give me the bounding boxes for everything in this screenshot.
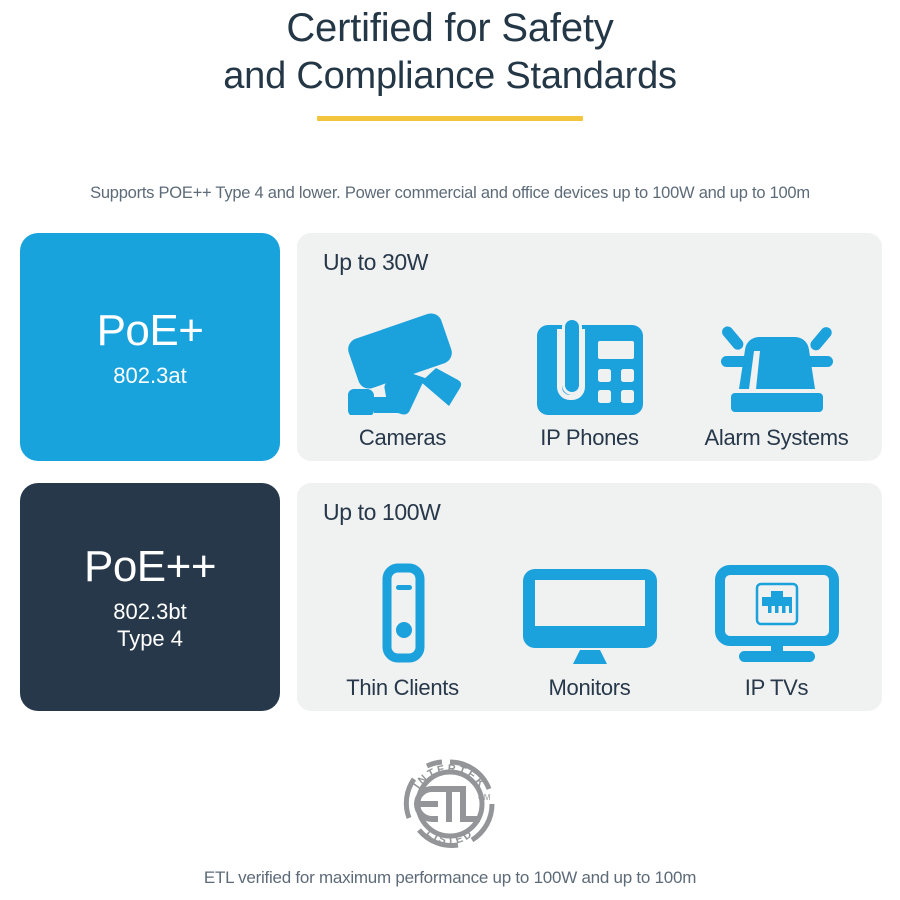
- page-title-line-1: Certified for Safety: [0, 4, 900, 52]
- poe-plusplus-panel: Up to 100W: [297, 483, 882, 711]
- device-item-thin-clients: Thin Clients: [310, 557, 495, 701]
- device-label-ip-tvs: IP TVs: [745, 675, 808, 701]
- page-title-line-2: and Compliance Standards: [0, 52, 900, 100]
- poe-plus-panel: Up to 30W: [297, 233, 882, 461]
- etl-logo-superscript: CM: [478, 793, 491, 802]
- poe-plusplus-badge-subtitle: 802.3bt Type 4: [113, 598, 186, 652]
- etl-logo-bottom-text: LISTED: [424, 827, 476, 847]
- device-label-monitors: Monitors: [549, 675, 631, 701]
- poe-plusplus-badge-subtitle-line-2: Type 4: [113, 625, 186, 652]
- security-camera-icon: [341, 307, 465, 419]
- etl-caption: ETL verified for maximum performance up …: [0, 868, 900, 888]
- poe-plusplus-badge: PoE++ 802.3bt Type 4: [20, 483, 280, 711]
- device-label-ip-phones: IP Phones: [540, 425, 638, 451]
- etl-logo-wrap: CM INTERTEK LISTED: [0, 748, 900, 860]
- poe-plus-panel-heading: Up to 30W: [323, 249, 428, 276]
- device-label-cameras: Cameras: [359, 425, 446, 451]
- desk-phone-icon: [536, 307, 644, 419]
- poe-plus-badge: PoE+ 802.3at: [20, 233, 280, 461]
- device-label-thin-clients: Thin Clients: [346, 675, 459, 701]
- tower-pc-icon: [371, 557, 435, 669]
- infographic-page: Certified for Safety and Compliance Stan…: [0, 0, 900, 900]
- device-item-monitors: Monitors: [497, 557, 682, 701]
- device-item-alarm-systems: Alarm Systems: [684, 307, 869, 451]
- poe-plusplus-badge-subtitle-line-1: 802.3bt: [113, 598, 186, 625]
- device-item-ip-phones: IP Phones: [497, 307, 682, 451]
- poe-plus-device-list: Cameras: [309, 285, 870, 451]
- device-label-alarm-systems: Alarm Systems: [704, 425, 848, 451]
- header: Certified for Safety and Compliance Stan…: [0, 0, 900, 121]
- poe-plusplus-panel-heading: Up to 100W: [323, 499, 440, 526]
- title-underline-accent: [317, 116, 583, 121]
- monitor-icon: [522, 557, 658, 669]
- poe-plus-row: PoE+ 802.3at Up to 30W: [20, 233, 882, 461]
- poe-plus-badge-title: PoE+: [97, 306, 204, 356]
- siren-light-icon: [701, 307, 853, 419]
- poe-plusplus-device-list: Thin Clients: [309, 535, 870, 701]
- poe-plusplus-badge-title: PoE++: [84, 542, 216, 592]
- device-item-cameras: Cameras: [310, 307, 495, 451]
- etl-intertek-listed-logo: CM INTERTEK LISTED: [394, 748, 506, 860]
- device-item-ip-tvs: IP TVs: [684, 557, 869, 701]
- iptv-ethernet-icon: [713, 557, 841, 669]
- poe-plus-badge-subtitle: 802.3at: [113, 362, 186, 389]
- poe-plusplus-row: PoE++ 802.3bt Type 4 Up to 100W: [20, 483, 882, 711]
- subtitle-text: Supports POE++ Type 4 and lower. Power c…: [0, 182, 900, 204]
